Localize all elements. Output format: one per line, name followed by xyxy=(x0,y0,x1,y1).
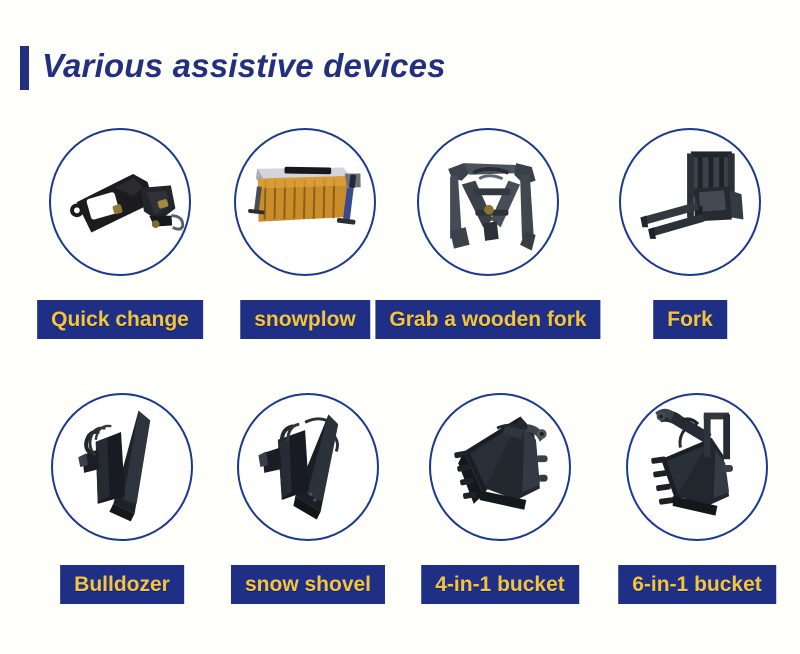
device-row-2: Bulldozer xyxy=(0,393,800,618)
snow-shovel-blade-icon xyxy=(237,393,379,541)
page-header: Various assistive devices xyxy=(0,0,800,120)
device-label: snow shovel xyxy=(231,565,385,604)
device-label: Grab a wooden fork xyxy=(375,300,600,339)
device-label: 4-in-1 bucket xyxy=(421,565,579,604)
six-in-one-bucket-icon xyxy=(626,393,768,541)
snowplow-broom-icon xyxy=(234,128,376,276)
pallet-fork-icon xyxy=(619,128,761,276)
page-title: Various assistive devices xyxy=(42,42,446,90)
device-label: Quick change xyxy=(37,300,203,339)
device-label: Fork xyxy=(653,300,727,339)
device-label: Bulldozer xyxy=(60,565,184,604)
title-accent-bar xyxy=(20,46,29,90)
wood-grapple-fork-icon xyxy=(417,128,559,276)
four-in-one-bucket-icon xyxy=(429,393,571,541)
quick-change-attachment-icon xyxy=(49,128,191,276)
device-label: 6-in-1 bucket xyxy=(618,565,776,604)
device-row-1: Quick change xyxy=(0,128,800,353)
dozer-blade-icon xyxy=(51,393,193,541)
device-label: snowplow xyxy=(240,300,370,339)
